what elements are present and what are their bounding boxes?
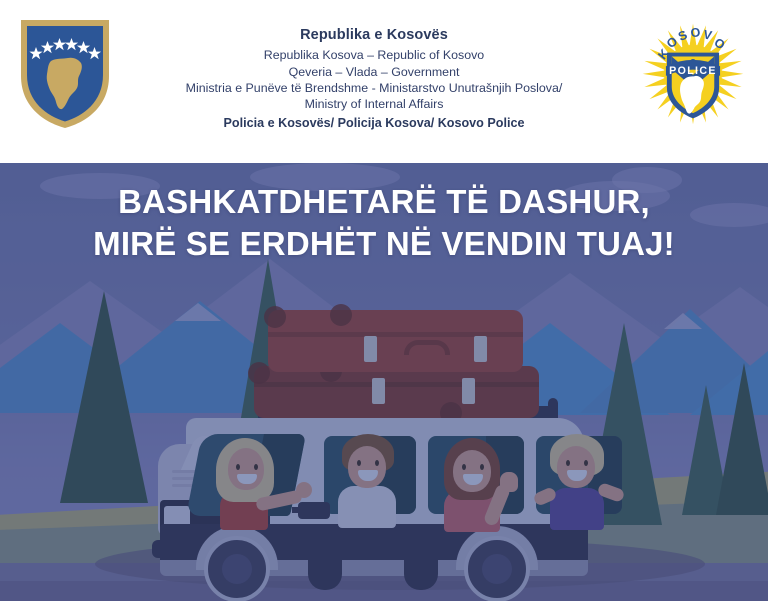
mudflap <box>404 558 438 590</box>
side-mirror <box>298 502 330 519</box>
suitcase-top <box>268 310 523 372</box>
suitcase-latch <box>474 336 487 362</box>
pine-tree <box>716 363 768 515</box>
suitcase-bottom <box>254 366 539 418</box>
driver-eye <box>254 464 258 470</box>
welcome-banner: BASHKATDHETARË TË DASHUR, MIRË SE ERDHËT… <box>0 163 768 601</box>
header-line-5: Ministry of Internal Affairs <box>130 96 618 112</box>
girl-rear-face <box>453 450 491 492</box>
window-pillar <box>524 428 535 524</box>
header-line-6: Policia e Kosovës/ Policija Kosova/ Koso… <box>130 115 618 132</box>
boy-rear-eye <box>584 460 588 466</box>
institutional-header: Republika e Kosovës Republika Kosova – R… <box>0 0 768 163</box>
hubcap <box>222 554 252 584</box>
welcome-poster: Republika e Kosovës Republika Kosova – R… <box>0 0 768 601</box>
wheel-rear <box>464 536 530 601</box>
header-line-3: Qeveria – Vlada – Government <box>130 64 618 80</box>
kosovo-police-badge-icon: K O S O V O POLICE <box>618 0 768 130</box>
wheel-front <box>204 536 270 601</box>
mudflap <box>308 558 342 590</box>
banner-headline: BASHKATDHETARË TË DASHUR, MIRË SE ERDHËT… <box>0 181 768 265</box>
badge-arc-letter: O <box>690 25 701 40</box>
road-trip-illustration: BASHKATDHETARË TË DASHUR, MIRË SE ERDHËT… <box>0 163 768 601</box>
hubcap <box>482 554 512 584</box>
boy-rear-eye <box>566 460 570 466</box>
kosovo-coat-of-arms-icon <box>0 0 130 132</box>
boy-front-torso <box>338 486 396 528</box>
badge-arc-letter: S <box>676 28 689 44</box>
pine-tree <box>60 291 148 503</box>
headline-line-1: BASHKATDHETARË TË DASHUR, <box>118 183 650 220</box>
badge-banner-text: POLICE <box>669 65 717 77</box>
boy-front-face <box>348 446 386 488</box>
boy-rear-face <box>557 446 595 488</box>
suitcase-handle <box>404 340 450 355</box>
family-van <box>150 288 630 588</box>
driver-hand <box>296 482 312 498</box>
girl-rear-waving-hand <box>500 472 518 492</box>
suitcase-latch <box>364 336 377 362</box>
headline-line-2: MIRË SE ERDHËT NË VENDIN TUAJ! <box>0 223 768 265</box>
girl-rear-eye <box>462 464 466 470</box>
header-text-block: Republika e Kosovës Republika Kosova – R… <box>130 0 618 131</box>
suitcase-corner <box>330 304 352 326</box>
boy-front-eye <box>357 460 361 466</box>
girl-rear-eye <box>480 464 484 470</box>
suitcase-band <box>254 382 539 387</box>
suitcase-latch <box>462 378 475 404</box>
suitcase-corner <box>248 362 270 384</box>
header-line-4: Ministria e Punëve të Brendshme - Minist… <box>130 80 618 96</box>
header-line-2: Republika Kosova – Republic of Kosovo <box>130 47 618 63</box>
boy-rear-torso <box>550 488 604 530</box>
header-title: Republika e Kosovës <box>130 26 618 45</box>
suitcase-latch <box>372 378 385 404</box>
window-pillar <box>416 428 427 524</box>
boy-front-eye <box>375 460 379 466</box>
suitcase-corner <box>264 306 286 328</box>
driver-eye <box>236 464 240 470</box>
